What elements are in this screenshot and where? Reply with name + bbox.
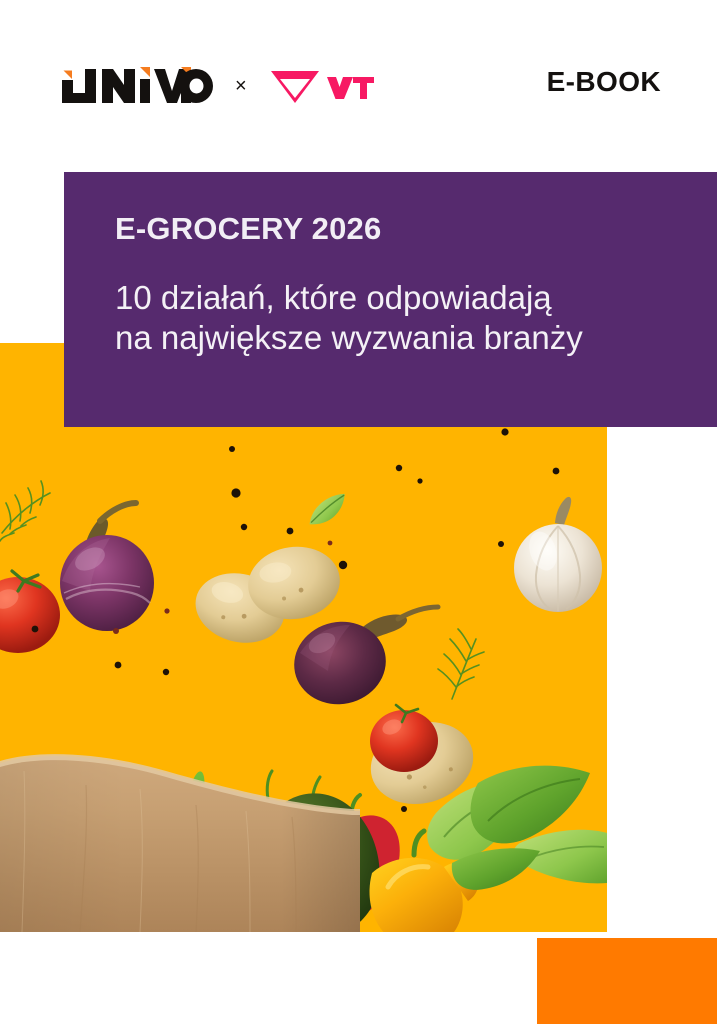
ebook-label: E-BOOK <box>547 68 661 96</box>
univio-logo-icon[interactable] <box>62 67 215 105</box>
ebook-cover-page: E-GROCERY 2026 10 działań, które odpowia… <box>0 0 717 1024</box>
paper-bag-body <box>0 745 360 932</box>
orange-accent-block <box>537 938 717 1024</box>
banner-copy: E-GROCERY 2026 10 działań, które odpowia… <box>115 213 695 358</box>
multiply-separator-icon: × <box>232 76 250 96</box>
page-subtitle-line-1: 10 działań, które odpowiadają <box>115 278 695 318</box>
page-subtitle-line-2: na największe wyzwania branży <box>115 318 695 358</box>
vtex-logo-icon[interactable] <box>267 69 381 103</box>
logo-lockup: × <box>62 62 381 110</box>
page-title: E-GROCERY 2026 <box>115 213 695 244</box>
page-subtitle: 10 działań, które odpowiadają na najwięk… <box>115 278 695 358</box>
cover-header: × E-BOOK <box>0 0 717 172</box>
